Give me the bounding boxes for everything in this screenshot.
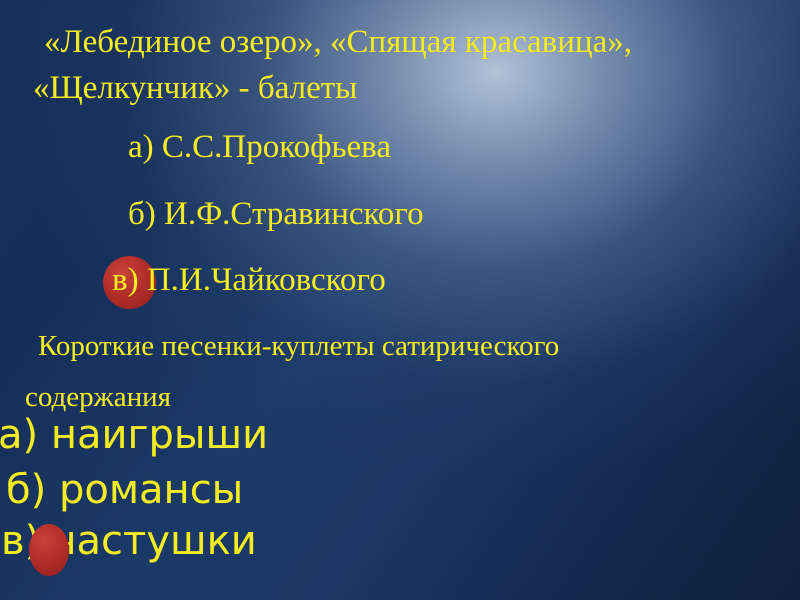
slide-canvas: «Лебединое озеро», «Спящая красавица», «…: [0, 0, 800, 600]
question-1-option-c[interactable]: в) П.И.Чайковского: [112, 264, 386, 297]
question-2-stem-line-1: Короткие песенки-куплеты сатирического: [38, 332, 559, 361]
question-1-stem-line-2: «Щелкунчик» - балеты: [33, 72, 357, 105]
answer-highlight-circle-question-2: [29, 524, 69, 576]
question-2-stem-line-2: содержания: [25, 383, 171, 412]
question-1-stem-line-1: «Лебединое озеро», «Спящая красавица»,: [44, 26, 632, 59]
question-2-option-a[interactable]: а) наигрыши: [0, 415, 268, 455]
question-1-option-a[interactable]: а) С.С.Прокофьева: [128, 131, 391, 164]
question-2-option-b[interactable]: б) романсы: [6, 470, 243, 510]
question-1-option-b[interactable]: б) И.Ф.Стравинского: [128, 198, 424, 231]
